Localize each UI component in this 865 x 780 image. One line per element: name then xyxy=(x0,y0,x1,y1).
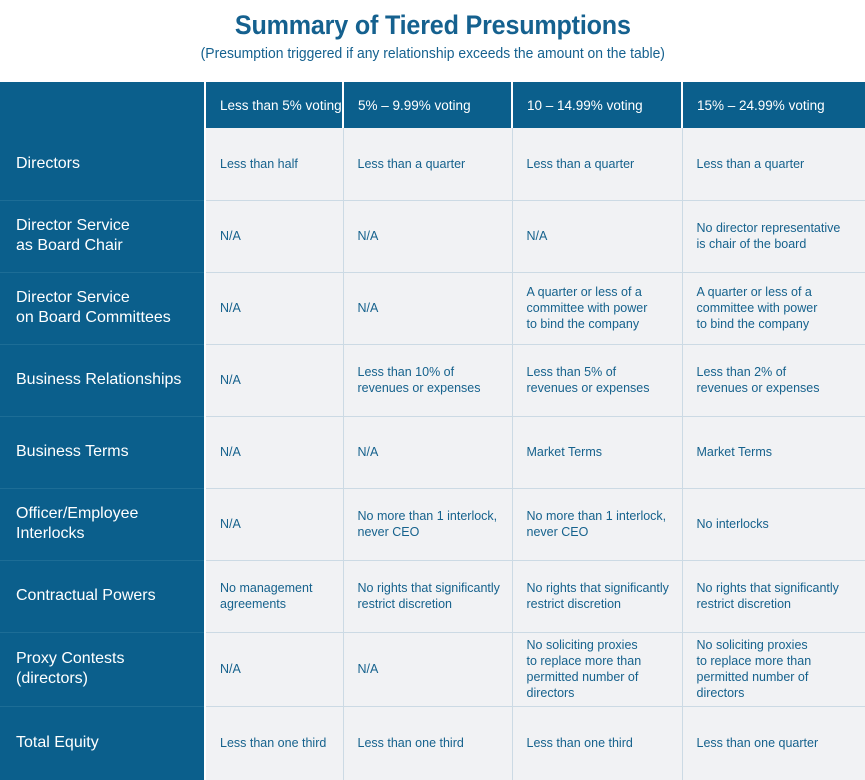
cell-business-rel-tier3: Less than 5% of revenues or expenses xyxy=(512,344,682,416)
cell-directors-tier2: Less than a quarter xyxy=(343,128,512,200)
column-header-tier-4: 15% – 24.99% voting xyxy=(682,82,865,128)
cell-interlocks-tier4: No interlocks xyxy=(682,488,865,560)
row-label-total-equity: Total Equity xyxy=(0,706,205,780)
cell-business-rel-tier4: Less than 2% of revenues or expenses xyxy=(682,344,865,416)
row-label-text: Officer/Employee Interlocks xyxy=(16,504,194,544)
cell-business-terms-tier4: Market Terms xyxy=(682,416,865,488)
cell-text: Less than one third xyxy=(220,735,333,751)
cell-text: Less than one third xyxy=(527,735,672,751)
cell-committees-tier1: N/A xyxy=(205,272,343,344)
cell-directors-tier4: Less than a quarter xyxy=(682,128,865,200)
row-label-text: Proxy Contests (directors) xyxy=(16,649,194,689)
cell-text: No soliciting proxies to replace more th… xyxy=(527,637,672,701)
row-label-text: Director Service on Board Committees xyxy=(16,288,194,328)
cell-text: N/A xyxy=(220,300,333,316)
cell-text: N/A xyxy=(220,661,333,677)
cell-text: Less than half xyxy=(220,156,333,172)
cell-contractual-tier2: No rights that significantly restrict di… xyxy=(343,560,512,632)
table-corner-cell xyxy=(0,82,205,128)
table-header-row: Less than 5% voting 5% – 9.99% voting 10… xyxy=(0,82,865,128)
cell-text: Less than 10% of revenues or expenses xyxy=(358,364,502,396)
row-label-director-service-committees: Director Service on Board Committees xyxy=(0,272,205,344)
row-label-proxy-contests: Proxy Contests (directors) xyxy=(0,632,205,706)
row-label-text: Director Service as Board Chair xyxy=(16,216,194,256)
table-body: Directors Less than half Less than a qua… xyxy=(0,128,865,780)
cell-text: Less than a quarter xyxy=(527,156,672,172)
cell-business-rel-tier2: Less than 10% of revenues or expenses xyxy=(343,344,512,416)
table-row: Director Service on Board Committees N/A… xyxy=(0,272,865,344)
cell-committees-tier4: A quarter or less of a committee with po… xyxy=(682,272,865,344)
row-label-officer-employee-interlocks: Officer/Employee Interlocks xyxy=(0,488,205,560)
cell-business-terms-tier1: N/A xyxy=(205,416,343,488)
table-row: Business Relationships N/A Less than 10%… xyxy=(0,344,865,416)
column-header-tier-3: 10 – 14.99% voting xyxy=(512,82,682,128)
column-header-tier-1: Less than 5% voting xyxy=(205,82,343,128)
cell-interlocks-tier2: No more than 1 interlock, never CEO xyxy=(343,488,512,560)
cell-text: No rights that significantly restrict di… xyxy=(697,580,856,612)
cell-text: Less than 2% of revenues or expenses xyxy=(697,364,856,396)
tiered-presumptions-table: Less than 5% voting 5% – 9.99% voting 10… xyxy=(0,82,865,780)
cell-text: N/A xyxy=(527,228,672,244)
cell-text: N/A xyxy=(220,444,333,460)
cell-directors-tier1: Less than half xyxy=(205,128,343,200)
row-label-business-relationships: Business Relationships xyxy=(0,344,205,416)
cell-text: Less than a quarter xyxy=(697,156,856,172)
page-subtitle: (Presumption triggered if any relationsh… xyxy=(200,44,664,64)
cell-text: Less than a quarter xyxy=(358,156,502,172)
presumptions-summary-page: Summary of Tiered Presumptions (Presumpt… xyxy=(0,0,865,779)
column-header-tier-2: 5% – 9.99% voting xyxy=(343,82,512,128)
table-row: Proxy Contests (directors) N/A N/A No so… xyxy=(0,632,865,706)
cell-text: No interlocks xyxy=(697,516,856,532)
cell-board-chair-tier2: N/A xyxy=(343,200,512,272)
cell-text: N/A xyxy=(358,444,502,460)
row-label-text: Directors xyxy=(16,154,194,174)
cell-text: N/A xyxy=(220,372,333,388)
cell-text: Market Terms xyxy=(527,444,672,460)
cell-business-rel-tier1: N/A xyxy=(205,344,343,416)
row-label-text: Contractual Powers xyxy=(16,586,194,606)
cell-total-equity-tier2: Less than one third xyxy=(343,706,512,780)
cell-committees-tier2: N/A xyxy=(343,272,512,344)
cell-text: N/A xyxy=(220,516,333,532)
cell-proxy-tier3: No soliciting proxies to replace more th… xyxy=(512,632,682,706)
cell-total-equity-tier3: Less than one third xyxy=(512,706,682,780)
page-title: Summary of Tiered Presumptions xyxy=(235,8,631,42)
cell-contractual-tier4: No rights that significantly restrict di… xyxy=(682,560,865,632)
row-label-business-terms: Business Terms xyxy=(0,416,205,488)
row-label-directors: Directors xyxy=(0,128,205,200)
cell-text: No rights that significantly restrict di… xyxy=(527,580,672,612)
row-label-director-service-board-chair: Director Service as Board Chair xyxy=(0,200,205,272)
cell-business-terms-tier2: N/A xyxy=(343,416,512,488)
cell-text: No more than 1 interlock, never CEO xyxy=(527,508,672,540)
cell-text: No management agreements xyxy=(220,580,333,612)
cell-proxy-tier4: No soliciting proxies to replace more th… xyxy=(682,632,865,706)
cell-text: Less than one quarter xyxy=(697,735,856,751)
cell-text: N/A xyxy=(358,228,502,244)
cell-directors-tier3: Less than a quarter xyxy=(512,128,682,200)
cell-text: A quarter or less of a committee with po… xyxy=(697,284,856,332)
cell-business-terms-tier3: Market Terms xyxy=(512,416,682,488)
row-label-contractual-powers: Contractual Powers xyxy=(0,560,205,632)
cell-text: No soliciting proxies to replace more th… xyxy=(697,637,856,701)
cell-interlocks-tier3: No more than 1 interlock, never CEO xyxy=(512,488,682,560)
row-label-text: Total Equity xyxy=(16,733,194,753)
cell-board-chair-tier1: N/A xyxy=(205,200,343,272)
cell-text: N/A xyxy=(358,661,502,677)
cell-text: Market Terms xyxy=(697,444,856,460)
cell-board-chair-tier4: No director representative is chair of t… xyxy=(682,200,865,272)
cell-board-chair-tier3: N/A xyxy=(512,200,682,272)
cell-text: Less than one third xyxy=(358,735,502,751)
table-row: Director Service as Board Chair N/A N/A … xyxy=(0,200,865,272)
cell-text: No director representative is chair of t… xyxy=(697,220,856,252)
cell-proxy-tier2: N/A xyxy=(343,632,512,706)
cell-text: N/A xyxy=(220,228,333,244)
cell-text: N/A xyxy=(358,300,502,316)
cell-text: No rights that significantly restrict di… xyxy=(358,580,502,612)
table-row: Contractual Powers No management agreeme… xyxy=(0,560,865,632)
cell-total-equity-tier1: Less than one third xyxy=(205,706,343,780)
table-row: Business Terms N/A N/A Market Terms Mark… xyxy=(0,416,865,488)
table-row: Officer/Employee Interlocks N/A No more … xyxy=(0,488,865,560)
cell-text: Less than 5% of revenues or expenses xyxy=(527,364,672,396)
table-row: Total Equity Less than one third Less th… xyxy=(0,706,865,780)
row-label-text: Business Terms xyxy=(16,442,194,462)
cell-text: No more than 1 interlock, never CEO xyxy=(358,508,502,540)
cell-proxy-tier1: N/A xyxy=(205,632,343,706)
cell-interlocks-tier1: N/A xyxy=(205,488,343,560)
table-row: Directors Less than half Less than a qua… xyxy=(0,128,865,200)
cell-contractual-tier3: No rights that significantly restrict di… xyxy=(512,560,682,632)
title-block: Summary of Tiered Presumptions (Presumpt… xyxy=(0,0,865,82)
cell-committees-tier3: A quarter or less of a committee with po… xyxy=(512,272,682,344)
row-label-text: Business Relationships xyxy=(16,370,194,390)
cell-text: A quarter or less of a committee with po… xyxy=(527,284,672,332)
cell-total-equity-tier4: Less than one quarter xyxy=(682,706,865,780)
cell-contractual-tier1: No management agreements xyxy=(205,560,343,632)
table-header: Less than 5% voting 5% – 9.99% voting 10… xyxy=(0,82,865,128)
